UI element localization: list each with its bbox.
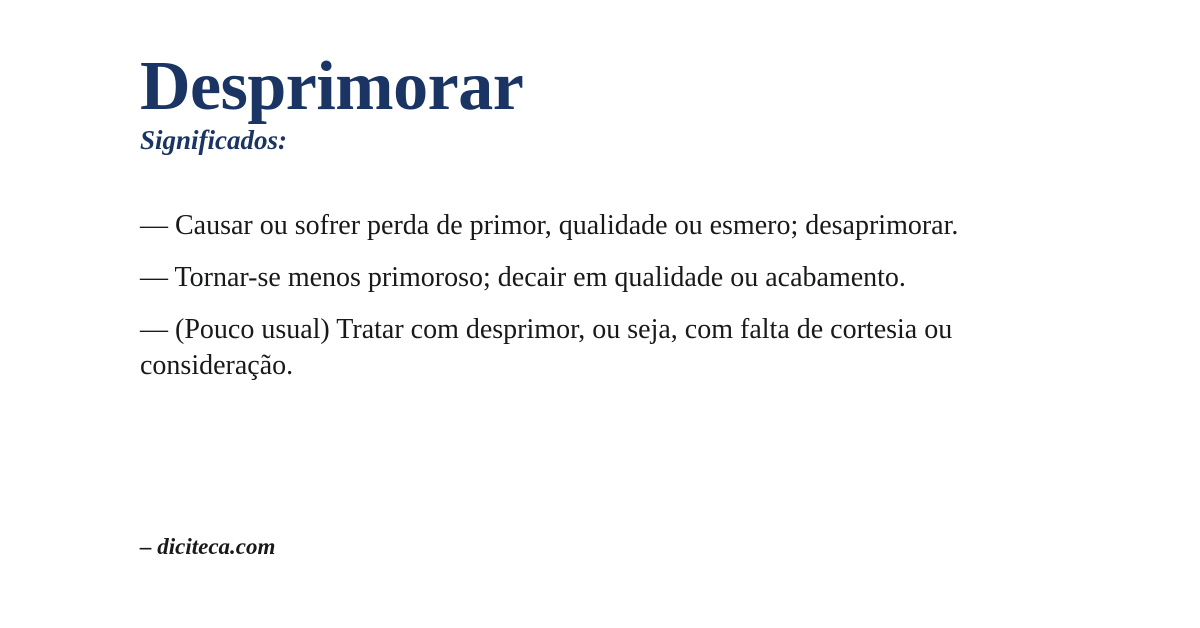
dictionary-entry-card: Desprimorar Significados: — Causar ou so…	[0, 0, 1200, 628]
page-title: Desprimorar	[140, 52, 1060, 122]
definition-item: — Causar ou sofrer perda de primor, qual…	[140, 208, 1052, 244]
definition-item: — (Pouco usual) Tratar com desprimor, ou…	[140, 312, 1052, 384]
definition-item: — Tornar-se menos primoroso; decair em q…	[140, 260, 1052, 296]
definition-text: Causar ou sofrer perda de primor, qualid…	[175, 210, 958, 241]
entry-header: Desprimorar Significados:	[140, 52, 1060, 156]
definition-dash: —	[140, 262, 175, 293]
definition-text: Tornar-se menos primoroso; decair em qua…	[175, 262, 906, 293]
meanings-label: Significados:	[140, 126, 1060, 156]
attribution-dash: –	[140, 534, 157, 559]
definition-text: (Pouco usual) Tratar com desprimor, ou s…	[140, 314, 952, 381]
definition-dash: —	[140, 314, 175, 345]
attribution-source: diciteca.com	[157, 534, 275, 559]
source-attribution: – diciteca.com	[140, 533, 275, 561]
definition-dash: —	[140, 210, 175, 241]
definitions-list: — Causar ou sofrer perda de primor, qual…	[140, 208, 1052, 384]
